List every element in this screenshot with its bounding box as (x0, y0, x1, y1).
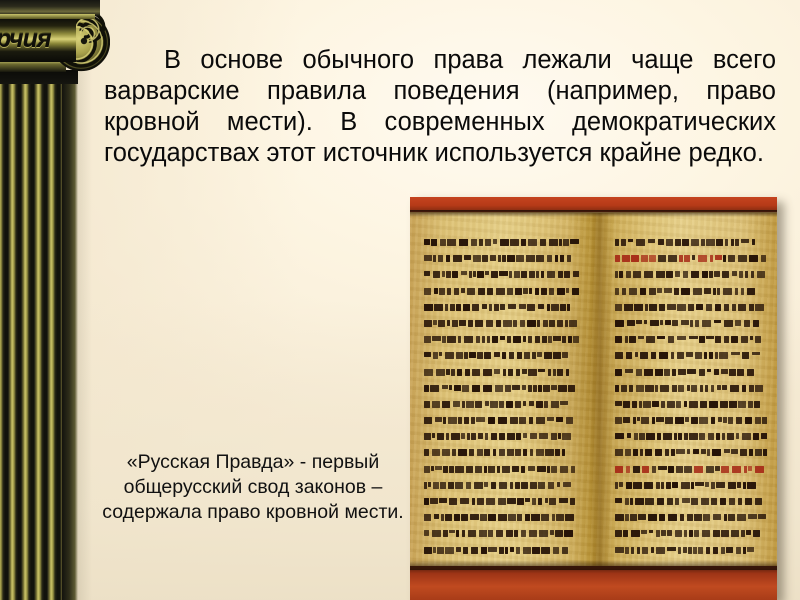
manuscript-bottom-binding-shadow (410, 560, 777, 570)
manuscript-text-line (615, 336, 767, 343)
manuscript-text-line (615, 352, 767, 359)
manuscript-text-line (424, 433, 579, 440)
manuscript-text-line (615, 433, 767, 440)
column-shaft-edge (62, 70, 78, 600)
manuscript-text-line (424, 514, 579, 521)
slide-body-paragraph: В основе обычного права лежали чаще всег… (104, 45, 776, 169)
column-capital-inscription: рчия (0, 24, 70, 54)
manuscript-text-line (424, 449, 579, 456)
manuscript-text-line (615, 449, 767, 456)
manuscript-text-line (615, 514, 767, 521)
presentation-slide: рчия В основе обычного права лежали чаще… (0, 0, 800, 600)
manuscript-text-line (615, 320, 767, 327)
manuscript-text-line (615, 288, 767, 295)
manuscript-parchment (410, 213, 777, 570)
manuscript-top-binding-shadow (410, 210, 777, 217)
manuscript-text-line (615, 417, 767, 424)
manuscript-image (410, 197, 777, 600)
column-abacus-lip (0, 14, 95, 19)
manuscript-text-line (615, 239, 767, 246)
manuscript-text-line (615, 369, 767, 376)
manuscript-text-line (424, 417, 579, 424)
manuscript-text-line (424, 288, 579, 295)
manuscript-text-line (615, 547, 767, 554)
manuscript-text-line (424, 482, 579, 489)
manuscript-text-line (615, 255, 767, 262)
manuscript-text-line (615, 271, 767, 278)
manuscript-page-left (424, 239, 579, 556)
manuscript-text-line (424, 530, 579, 537)
manuscript-text-line (424, 239, 579, 246)
manuscript-text-line (424, 271, 579, 278)
manuscript-text-line (615, 482, 767, 489)
manuscript-text-line (424, 466, 579, 473)
column-shaft-flutes (0, 70, 70, 600)
ionic-column-decoration: рчия (0, 0, 112, 600)
manuscript-text-line (615, 498, 767, 505)
manuscript-text-line (615, 304, 767, 311)
manuscript-text-line (615, 385, 767, 392)
manuscript-text-line (615, 466, 767, 473)
manuscript-text-line (424, 385, 579, 392)
manuscript-text-line (424, 320, 579, 327)
manuscript-text-line (615, 530, 767, 537)
image-caption: «Русская Правда» - первый общерусский св… (98, 450, 408, 525)
manuscript-page-right (615, 239, 767, 556)
manuscript-text-line (424, 304, 579, 311)
manuscript-text-line (424, 336, 579, 343)
manuscript-text-line (424, 369, 579, 376)
manuscript-text-line (424, 401, 579, 408)
manuscript-bottom-binding (410, 566, 777, 600)
manuscript-text-line (424, 352, 579, 359)
manuscript-gutter (590, 213, 612, 570)
manuscript-text-line (615, 401, 767, 408)
manuscript-text-line (424, 255, 579, 262)
manuscript-text-line (424, 547, 579, 554)
manuscript-text-line (424, 498, 579, 505)
